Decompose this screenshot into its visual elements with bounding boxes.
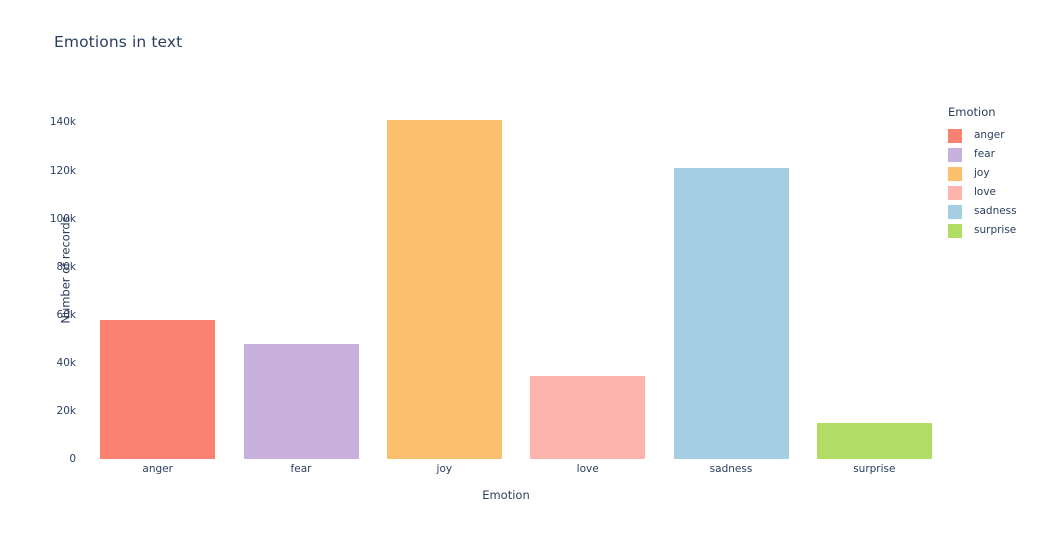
bar-surprise[interactable]	[817, 423, 932, 459]
legend-swatch-icon	[948, 205, 962, 219]
legend-item-label: joy	[974, 168, 990, 179]
y-axis-tick-label: 60k	[57, 309, 76, 321]
legend-item-surprise[interactable]: surprise	[948, 221, 1060, 240]
legend-swatch-icon	[948, 186, 962, 200]
legend-item-fear[interactable]: fear	[948, 145, 1060, 164]
bar-sadness[interactable]	[674, 168, 789, 459]
bar-joy[interactable]	[387, 120, 502, 459]
bars-layer	[86, 108, 946, 459]
chart-page: Emotions in text Number of records 020k4…	[0, 0, 1060, 540]
legend-item-joy[interactable]: joy	[948, 164, 1060, 183]
legend-item-sadness[interactable]: sadness	[948, 202, 1060, 221]
x-axis-tick-label: anger	[142, 463, 173, 475]
legend-items: angerfearjoylovesadnesssurprise	[948, 126, 1060, 240]
y-axis-tick-label: 100k	[50, 213, 76, 225]
y-axis: 020k40k60k80k100k120k140k	[0, 0, 86, 540]
bar-fear[interactable]	[244, 344, 359, 459]
plot-area	[86, 108, 946, 459]
legend-swatch-icon	[948, 224, 962, 238]
legend-swatch-icon	[948, 129, 962, 143]
y-axis-tick-label: 80k	[57, 261, 76, 273]
legend-swatch-icon	[948, 167, 962, 181]
y-axis-tick-label: 120k	[50, 165, 76, 177]
x-axis-tick-label: sadness	[710, 463, 753, 475]
x-axis-tick-label: fear	[291, 463, 312, 475]
legend-item-label: love	[974, 187, 996, 198]
legend-item-love[interactable]: love	[948, 183, 1060, 202]
x-axis: angerfearjoylovesadnesssurprise	[86, 463, 946, 485]
legend-item-label: sadness	[974, 206, 1017, 217]
x-axis-title: Emotion	[0, 488, 1012, 502]
legend: Emotion angerfearjoylovesadnesssurprise	[948, 105, 1060, 240]
bar-love[interactable]	[530, 376, 645, 459]
legend-swatch-icon	[948, 148, 962, 162]
x-axis-tick-label: love	[577, 463, 599, 475]
y-axis-tick-label: 20k	[57, 405, 76, 417]
y-axis-tick-label: 0	[69, 453, 76, 465]
legend-item-label: fear	[974, 149, 995, 160]
y-axis-tick-label: 140k	[50, 116, 76, 128]
x-axis-tick-label: joy	[437, 463, 453, 475]
legend-item-label: surprise	[974, 225, 1016, 236]
legend-title: Emotion	[948, 105, 1060, 119]
bar-anger[interactable]	[100, 320, 215, 459]
y-axis-tick-label: 40k	[57, 357, 76, 369]
legend-item-anger[interactable]: anger	[948, 126, 1060, 145]
x-axis-tick-label: surprise	[853, 463, 895, 475]
legend-item-label: anger	[974, 130, 1005, 141]
